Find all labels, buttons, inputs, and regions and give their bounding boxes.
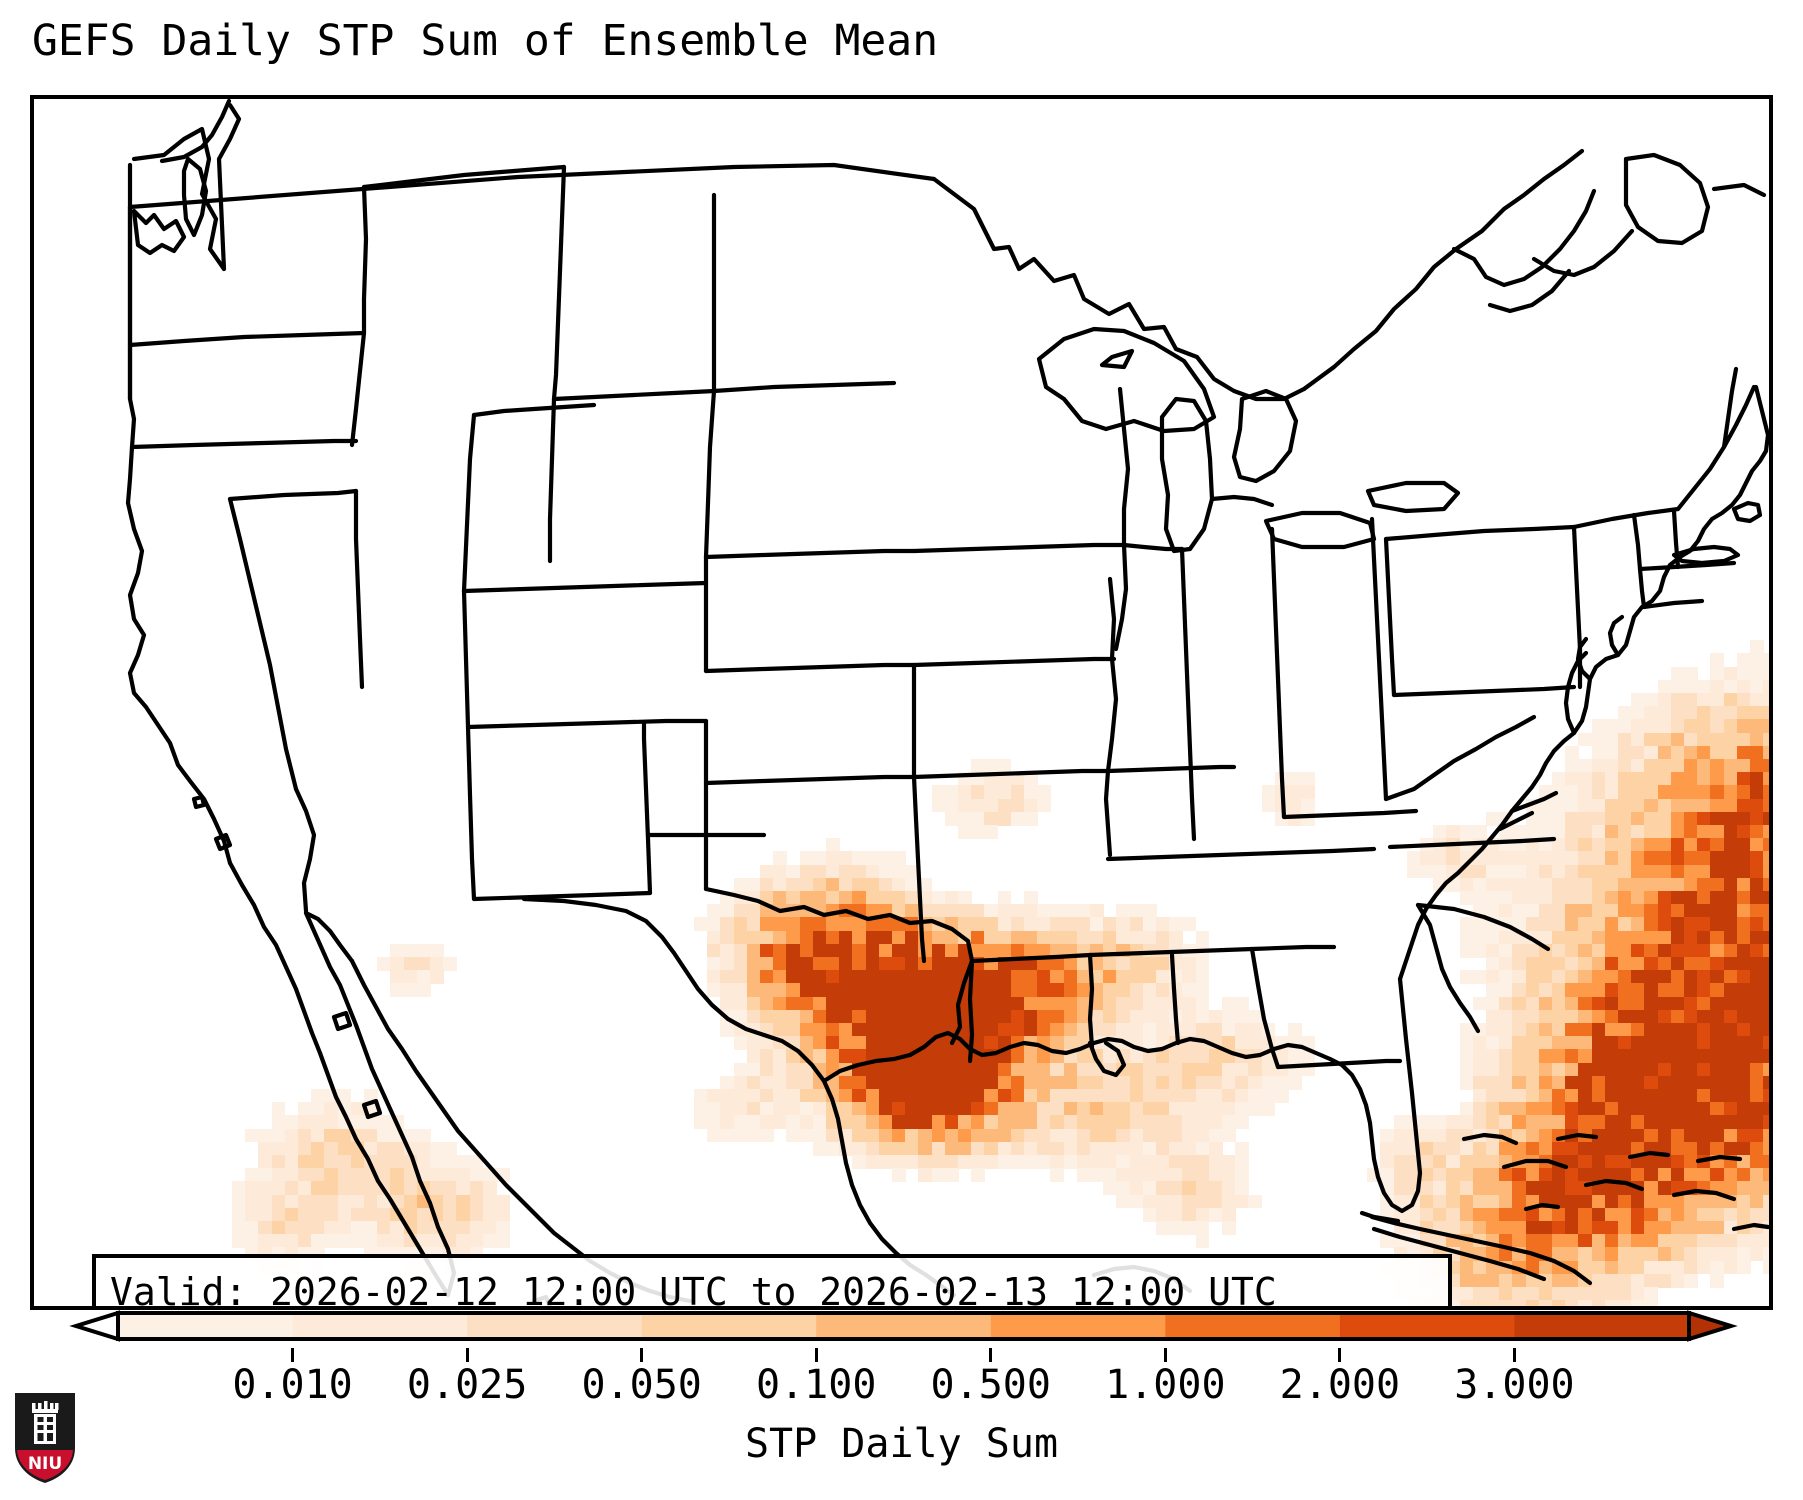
colorbar-tick-labels: 0.0100.0250.0500.1000.5001.0002.0003.000 [0,1362,1803,1412]
valid-time-line: Valid: 2026-02-12 12:00 UTC to 2026-02-1… [110,1266,1434,1310]
colorbar-over-arrow [1689,1313,1731,1339]
colorbar-band-8 [1514,1315,1689,1337]
page-title: GEFS Daily STP Sum of Ensemble Mean [32,16,938,66]
colorbar-band-7 [1340,1315,1515,1337]
colorbar-tick-label-5: 1.000 [1105,1362,1225,1408]
colorbar-band-4 [816,1315,991,1337]
map-frame: Valid: 2026-02-12 12:00 UTC to 2026-02-1… [30,95,1773,1310]
colorbar-tick-label-6: 2.000 [1280,1362,1400,1408]
map-canvas [34,99,1769,1306]
colorbar [0,1305,1803,1353]
info-box: Valid: 2026-02-12 12:00 UTC to 2026-02-1… [92,1254,1452,1310]
colorbar-band-1 [293,1315,468,1337]
niu-logo: NIU [14,1392,76,1484]
colorbar-tick-label-1: 0.025 [407,1362,527,1408]
colorbar-tick-label-0: 0.010 [232,1362,352,1408]
colorbar-band-5 [991,1315,1166,1337]
colorbar-tick-label-7: 3.000 [1454,1362,1574,1408]
colorbar-band-3 [642,1315,817,1337]
colorbar-axis-label: STP Daily Sum [0,1420,1803,1468]
colorbar-tick-label-4: 0.500 [931,1362,1051,1408]
niu-logo-text: NIU [28,1454,62,1474]
geography-outline-layer [34,99,1769,1306]
colorbar-band-6 [1165,1315,1340,1337]
colorbar-tick-label-2: 0.050 [581,1362,701,1408]
colorbar-band-0 [118,1315,293,1337]
colorbar-under-arrow [76,1313,118,1339]
colorbar-band-2 [467,1315,642,1337]
colorbar-gradient [0,1305,1803,1353]
colorbar-tick-label-3: 0.100 [756,1362,876,1408]
